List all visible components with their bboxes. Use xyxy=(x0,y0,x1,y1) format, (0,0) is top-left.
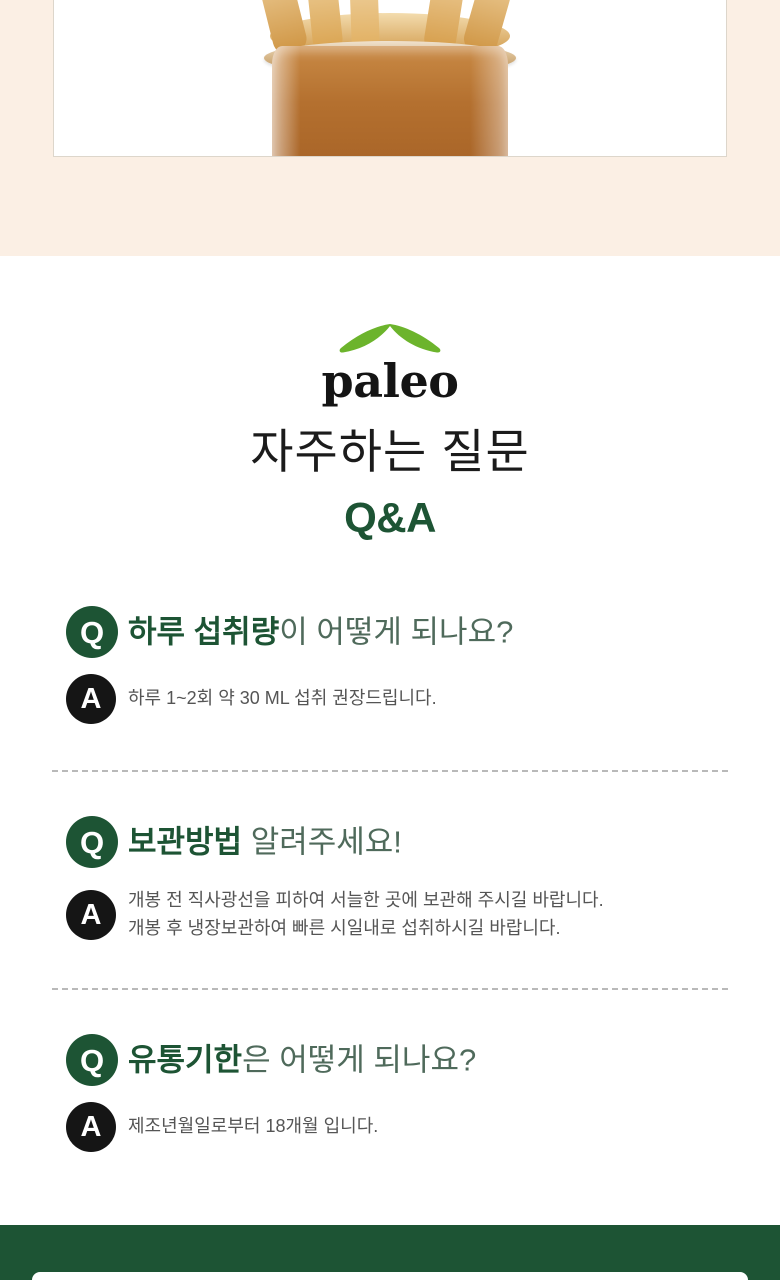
faq-question-row[interactable]: Q 유통기한은 어떻게 되나요? xyxy=(0,1034,780,1086)
product-photo xyxy=(54,0,726,156)
faq-answer-line: 개봉 후 냉장보관하여 빠른 시일내로 섭취하시길 바랍니다. xyxy=(128,915,604,943)
faq-subtitle: Q&A xyxy=(0,496,780,540)
drink-glass-illustration xyxy=(264,21,516,157)
answer-badge: A xyxy=(66,890,116,940)
faq-item[interactable]: Q 유통기한은 어떻게 되나요? A 제조년월일로부터 18개월 입니다. xyxy=(0,1034,780,1152)
faq-answer-row: A 제조년월일로부터 18개월 입니다. xyxy=(0,1102,780,1152)
faq-answer-line: 제조년월일로부터 18개월 입니다. xyxy=(128,1113,378,1141)
question-badge: Q xyxy=(66,606,118,658)
faq-answer-line: 하루 1~2회 약 30 ML 섭취 권장드립니다. xyxy=(128,685,437,713)
faq-answer-text: 제조년월일로부터 18개월 입니다. xyxy=(128,1113,378,1141)
faq-question-keyword: 하루 섭취량 xyxy=(128,614,279,649)
faq-section: paleo 자주하는 질문 Q&A Q 하루 섭취량이 어떻게 되나요? A 하… xyxy=(0,256,780,1225)
answer-badge: A xyxy=(66,1102,116,1152)
brand-logo: paleo xyxy=(0,322,780,404)
leaf-arch-logo-icon xyxy=(332,322,448,356)
product-photo-card xyxy=(53,0,727,157)
glass-body xyxy=(272,46,508,157)
faq-title: 자주하는 질문 xyxy=(0,427,780,476)
faq-answer-row: A 개봉 전 직사광선을 피하여 서늘한 곳에 보관해 주시길 바랍니다. 개봉… xyxy=(0,884,780,946)
spacer xyxy=(0,724,780,770)
faq-question-rest: 은 어떻게 되나요? xyxy=(242,1042,476,1077)
faq-question-keyword: 보관방법 xyxy=(128,824,242,859)
faq-question-row[interactable]: Q 하루 섭취량이 어떻게 되나요? xyxy=(0,606,780,658)
question-badge: Q xyxy=(66,816,118,868)
faq-answer-text: 개봉 전 직사광선을 피하여 서늘한 곳에 보관해 주시길 바랍니다. 개봉 후… xyxy=(128,887,604,943)
faq-question-text: 보관방법 알려주세요! xyxy=(128,823,402,860)
brand-name: paleo xyxy=(0,358,780,404)
faq-question-rest: 이 어떻게 되나요? xyxy=(279,614,513,649)
faq-item[interactable]: Q 하루 섭취량이 어떻게 되나요? A 하루 1~2회 약 30 ML 섭취 … xyxy=(0,606,780,724)
faq-question-text: 유통기한은 어떻게 되나요? xyxy=(128,1041,476,1078)
faq-answer-row: A 하루 1~2회 약 30 ML 섭취 권장드립니다. xyxy=(0,674,780,724)
faq-question-row[interactable]: Q 보관방법 알려주세요! xyxy=(0,816,780,868)
question-badge: Q xyxy=(66,1034,118,1086)
footer-card xyxy=(32,1272,748,1280)
spacer xyxy=(0,946,780,988)
answer-badge: A xyxy=(66,674,116,724)
faq-item[interactable]: Q 보관방법 알려주세요! A 개봉 전 직사광선을 피하여 서늘한 곳에 보관… xyxy=(0,816,780,946)
faq-question-text: 하루 섭취량이 어떻게 되나요? xyxy=(128,613,513,650)
faq-answer-text: 하루 1~2회 약 30 ML 섭취 권장드립니다. xyxy=(128,685,437,713)
faq-answer-line: 개봉 전 직사광선을 피하여 서늘한 곳에 보관해 주시길 바랍니다. xyxy=(128,887,604,915)
product-detail-page: paleo 자주하는 질문 Q&A Q 하루 섭취량이 어떻게 되나요? A 하… xyxy=(0,0,780,1280)
faq-question-keyword: 유통기한 xyxy=(128,1042,242,1077)
spacer xyxy=(0,990,780,1034)
hero-band xyxy=(0,0,780,256)
faq-question-rest: 알려주세요! xyxy=(242,824,402,859)
spacer xyxy=(0,772,780,816)
faq-list: Q 하루 섭취량이 어떻게 되나요? A 하루 1~2회 약 30 ML 섭취 … xyxy=(0,606,780,1152)
